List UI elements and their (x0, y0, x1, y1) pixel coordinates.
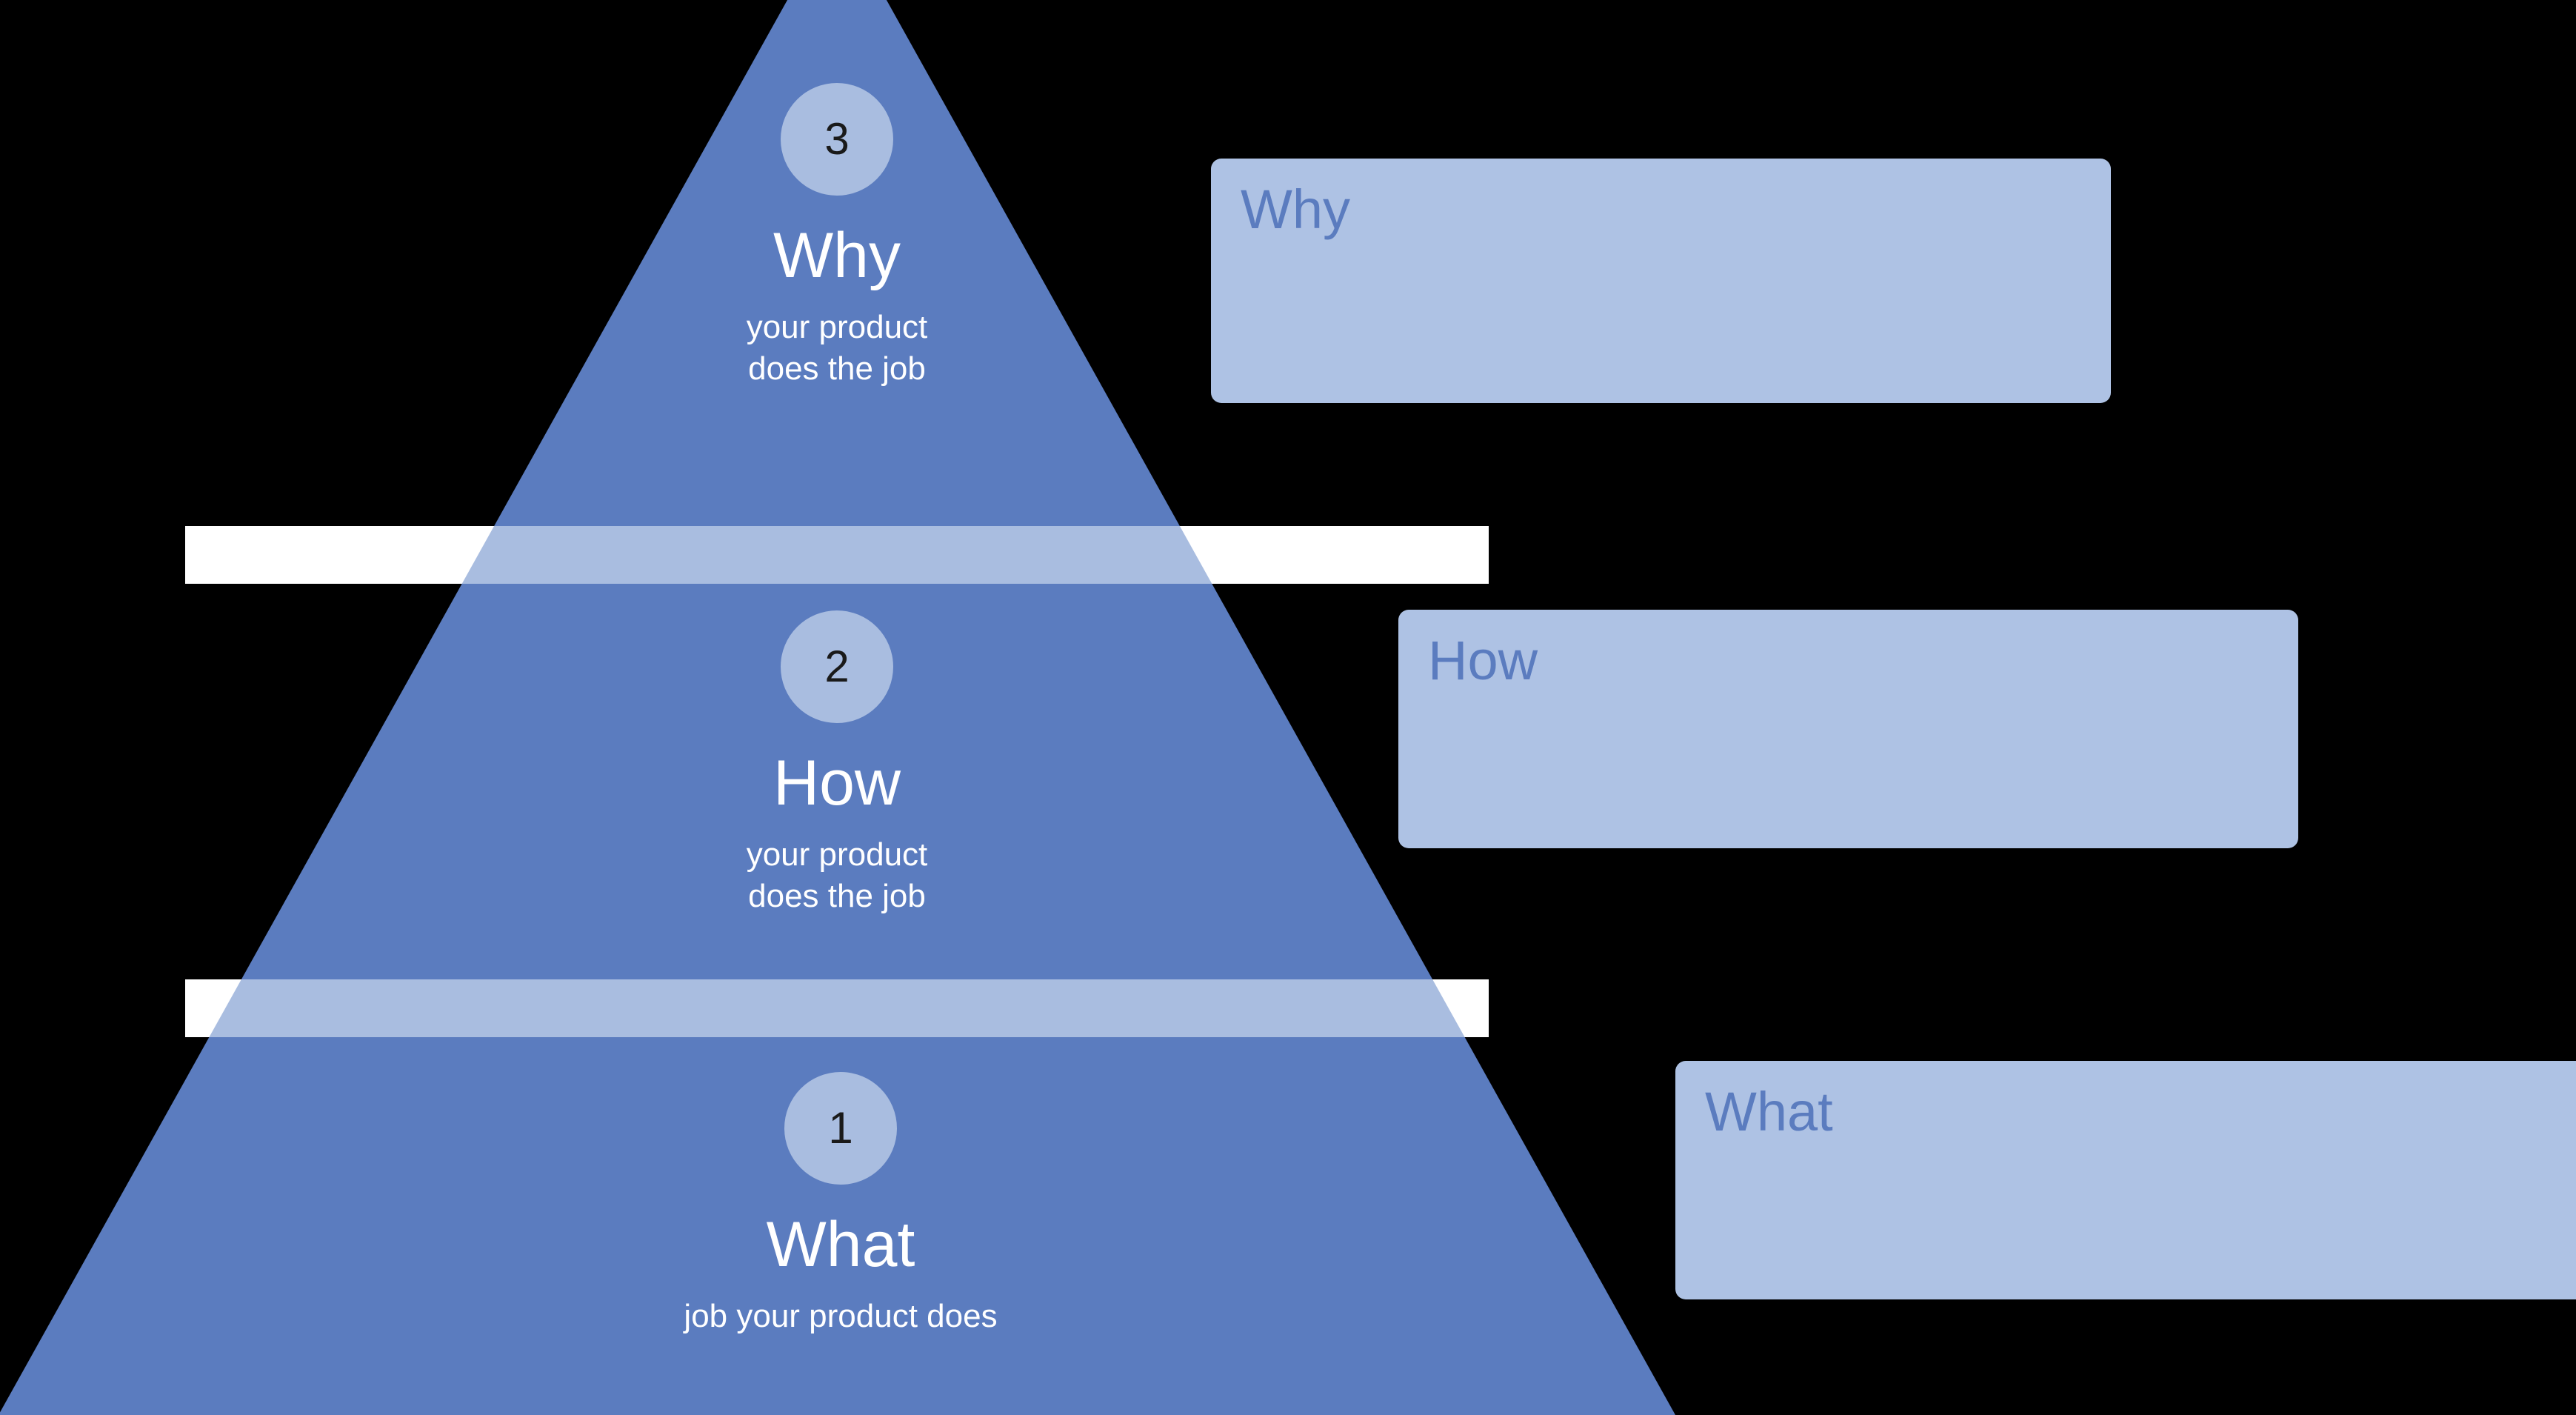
note-card-how-label: How (1428, 633, 2269, 688)
note-card-how[interactable]: How (1398, 610, 2298, 848)
diagram-canvas: 3 Why your product does the job 2 How yo… (0, 0, 2576, 1415)
note-card-why-label: Why (1241, 182, 2081, 237)
note-card-what-label: What (1705, 1085, 2576, 1139)
note-card-what[interactable]: What (1675, 1061, 2576, 1299)
divider-overlay-lower (185, 979, 1489, 1037)
note-card-why[interactable]: Why (1211, 159, 2111, 403)
